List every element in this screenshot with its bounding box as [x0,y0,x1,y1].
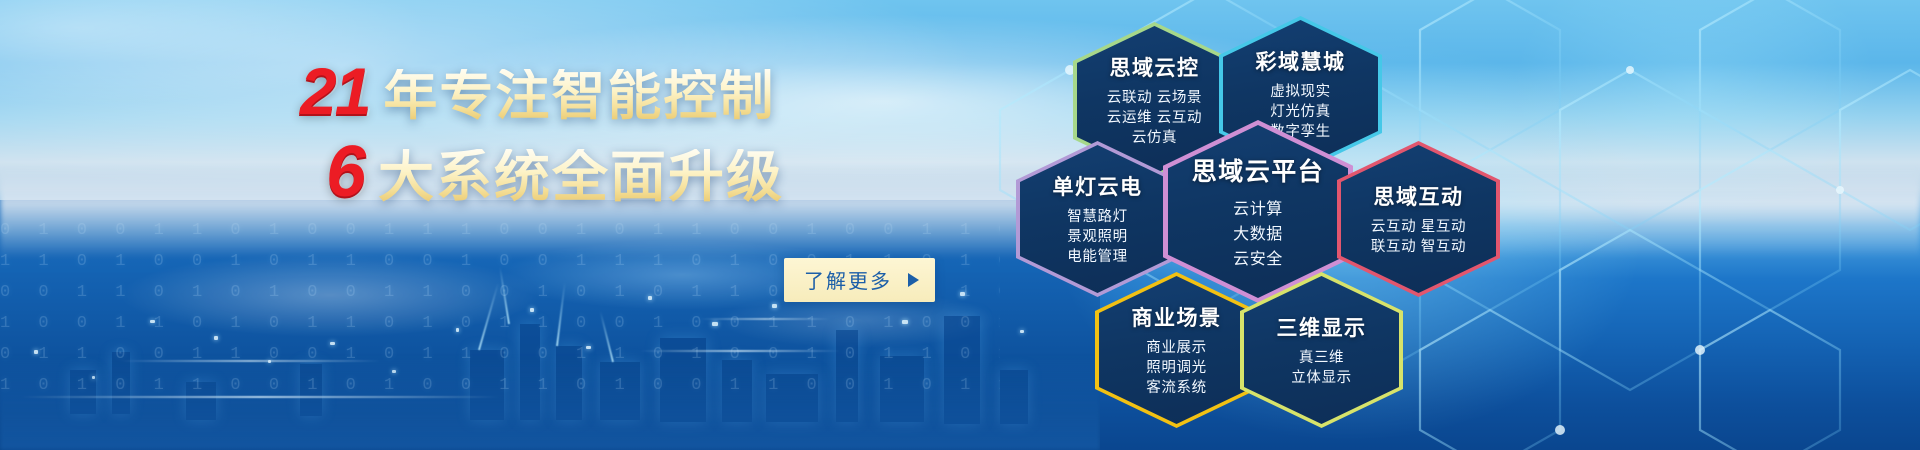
hexagon-title: 彩域慧城 [1256,46,1346,76]
hexagon-inner-sanwei-xianshi: 三维显示真三维立体显示 [1244,276,1399,424]
hexagon-feature-item: 真三维 [1291,348,1351,368]
hexagon-title: 三维显示 [1277,312,1367,342]
hexagon-feature-item: 虚拟现实 [1270,82,1330,102]
promo-banner: 0 1 0 0 1 1 0 1 0 0 1 1 1 0 0 1 0 1 1 0 … [0,0,1920,450]
hexagon-feature-item: 联互动 智互动 [1371,237,1466,257]
hexagon-title: 商业场景 [1132,302,1222,332]
hexagon-feature-item: 云计算 [1233,197,1283,222]
hexagon-feature-item: 客流系统 [1146,378,1206,398]
hexagon-feature-item: 大数据 [1233,222,1283,247]
hexagon-title: 思域云控 [1110,52,1200,82]
hexagon-feature-item: 灯光仿真 [1270,102,1330,122]
hexagon-feature-list: 商业展示照明调光客流系统 [1146,338,1206,398]
hexagon-feature-item: 智慧路灯 [1067,207,1127,227]
hexagon-feature-item: 商业展示 [1146,338,1206,358]
hexagon-inner-siyu-hudong: 思域互动云互动 星互动联互动 智互动 [1341,145,1496,293]
hexagon-title: 单灯云电 [1053,171,1143,201]
hexagon-inner-dandeng-yundian: 单灯云电智慧路灯景观照明电能管理 [1020,145,1175,293]
hexagon-feature-item: 云互动 星互动 [1371,217,1466,237]
hexagon-feature-list: 云互动 星互动联互动 智互动 [1371,217,1466,257]
hexagon-feature-item: 立体显示 [1291,368,1351,388]
hexagon-feature-list: 云联动 云场景云运维 云互动云仿真 [1107,88,1202,148]
hexagon-feature-item: 电能管理 [1067,247,1127,267]
hexagon-inner-siyu-yunpingtai: 思域云平台云计算大数据云安全 [1168,125,1348,298]
hexagon-feature-item: 景观照明 [1067,227,1127,247]
hexagon-feature-list: 真三维立体显示 [1291,348,1351,388]
hexagon-inner-shangye-changjing: 商业场景商业展示照明调光客流系统 [1099,276,1254,424]
hexagon-feature-item: 云运维 云互动 [1107,108,1202,128]
hexagon-card-siyu-hudong[interactable]: 思域互动云互动 星互动联互动 智互动 [1337,141,1500,297]
hexagon-feature-item: 云仿真 [1107,128,1202,148]
hexagon-feature-item: 云安全 [1233,247,1283,272]
hexagon-title: 思域云平台 [1192,152,1325,188]
hexagon-feature-item: 照明调光 [1146,358,1206,378]
hexagon-feature-list: 智慧路灯景观照明电能管理 [1067,207,1127,267]
hexagon-diagram: 思域云控云联动 云场景云运维 云互动云仿真彩域慧城虚拟现实灯光仿真数字孪生单灯云… [0,0,1920,450]
hexagon-title: 思域互动 [1374,181,1464,211]
hexagon-feature-item: 云联动 云场景 [1107,88,1202,108]
hexagon-feature-list: 云计算大数据云安全 [1233,197,1283,272]
hexagon-card-shangye-changjing[interactable]: 商业场景商业展示照明调光客流系统 [1095,272,1258,428]
